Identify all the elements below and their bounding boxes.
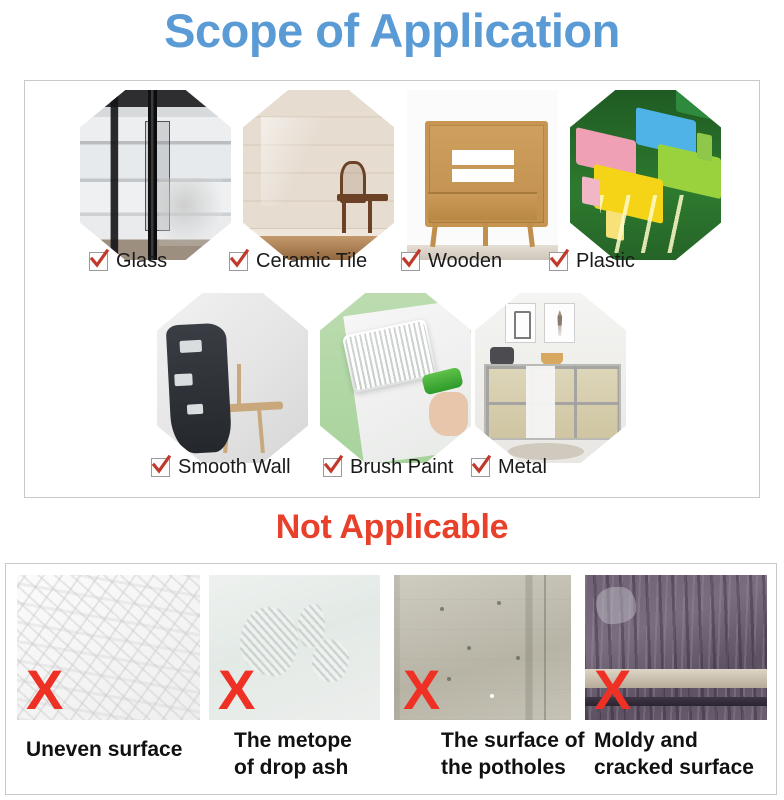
applicable-image-smooth-wall [157, 293, 308, 463]
not-applicable-caption-drop-ash: The metope of drop ash [234, 727, 404, 781]
applicable-label-ceramic-tile: Ceramic Tile [229, 250, 367, 273]
applicable-label-text: Wooden [428, 250, 502, 273]
x-mark-icon: X [594, 662, 631, 718]
applicable-image-wooden [407, 90, 558, 260]
applicable-label-wooden: Wooden [401, 250, 502, 273]
applicable-label-brush-paint: Brush Paint [323, 456, 453, 479]
applicable-image-brush-paint [320, 293, 471, 463]
checkbox-icon [471, 458, 490, 477]
not-applicable-caption-moldy-cracked: Moldy and cracked surface [594, 727, 784, 781]
x-mark-icon: X [403, 662, 440, 718]
applicable-label-glass: Glass [89, 250, 167, 273]
applicable-image-plastic [570, 90, 721, 260]
glass-reflection-detail [159, 178, 222, 246]
glass-mullion-detail [148, 90, 157, 260]
checkbox-icon [323, 458, 342, 477]
wall-coat-detail [166, 322, 233, 454]
caption-line-1: Uneven surface [26, 736, 216, 763]
checkbox-icon [549, 252, 568, 271]
tile-chair-detail [337, 161, 388, 232]
applicable-label-text: Ceramic Tile [256, 250, 367, 273]
applicable-panel: Glass Ceramic Tile Wooden Plastic [24, 80, 760, 498]
page-title: Scope of Application [0, 0, 784, 64]
applicable-image-glass [80, 90, 231, 260]
checkbox-icon [89, 252, 108, 271]
applicable-label-metal: Metal [471, 456, 547, 479]
metal-wall-art-2 [544, 303, 575, 342]
x-mark-icon: X [26, 662, 63, 718]
applicable-image-ceramic-tile [243, 90, 394, 260]
metal-cabinet-frame [484, 364, 621, 439]
caption-line-2: cracked surface [594, 754, 784, 781]
caption-line-1: Moldy and [594, 727, 784, 754]
metal-pot-detail [490, 347, 514, 366]
applicable-label-text: Glass [116, 250, 167, 273]
plastic-table-legs-detail [600, 195, 691, 253]
caption-line-2: of drop ash [234, 754, 404, 781]
not-applicable-panel: X Uneven surface X The metope of drop as… [5, 563, 777, 795]
applicable-label-text: Brush Paint [350, 456, 453, 479]
metal-wall-art-1 [505, 303, 536, 342]
wood-drawer-detail [428, 192, 537, 220]
applicable-image-metal [475, 293, 626, 463]
paint-hand-detail [429, 392, 468, 436]
applicable-label-plastic: Plastic [549, 250, 635, 273]
x-mark-icon: X [218, 662, 255, 718]
applicable-label-text: Metal [498, 456, 547, 479]
applicable-label-text: Plastic [576, 250, 635, 273]
applicable-label-text: Smooth Wall [178, 456, 291, 479]
tile-gloss-detail [261, 117, 330, 205]
checkbox-icon [151, 458, 170, 477]
checkbox-icon [401, 252, 420, 271]
applicable-label-smooth-wall: Smooth Wall [151, 456, 291, 479]
not-applicable-title: Not Applicable [0, 505, 784, 549]
not-applicable-caption-uneven-surface: Uneven surface [26, 736, 216, 763]
checkbox-icon [229, 252, 248, 271]
caption-line-1: The metope [234, 727, 404, 754]
